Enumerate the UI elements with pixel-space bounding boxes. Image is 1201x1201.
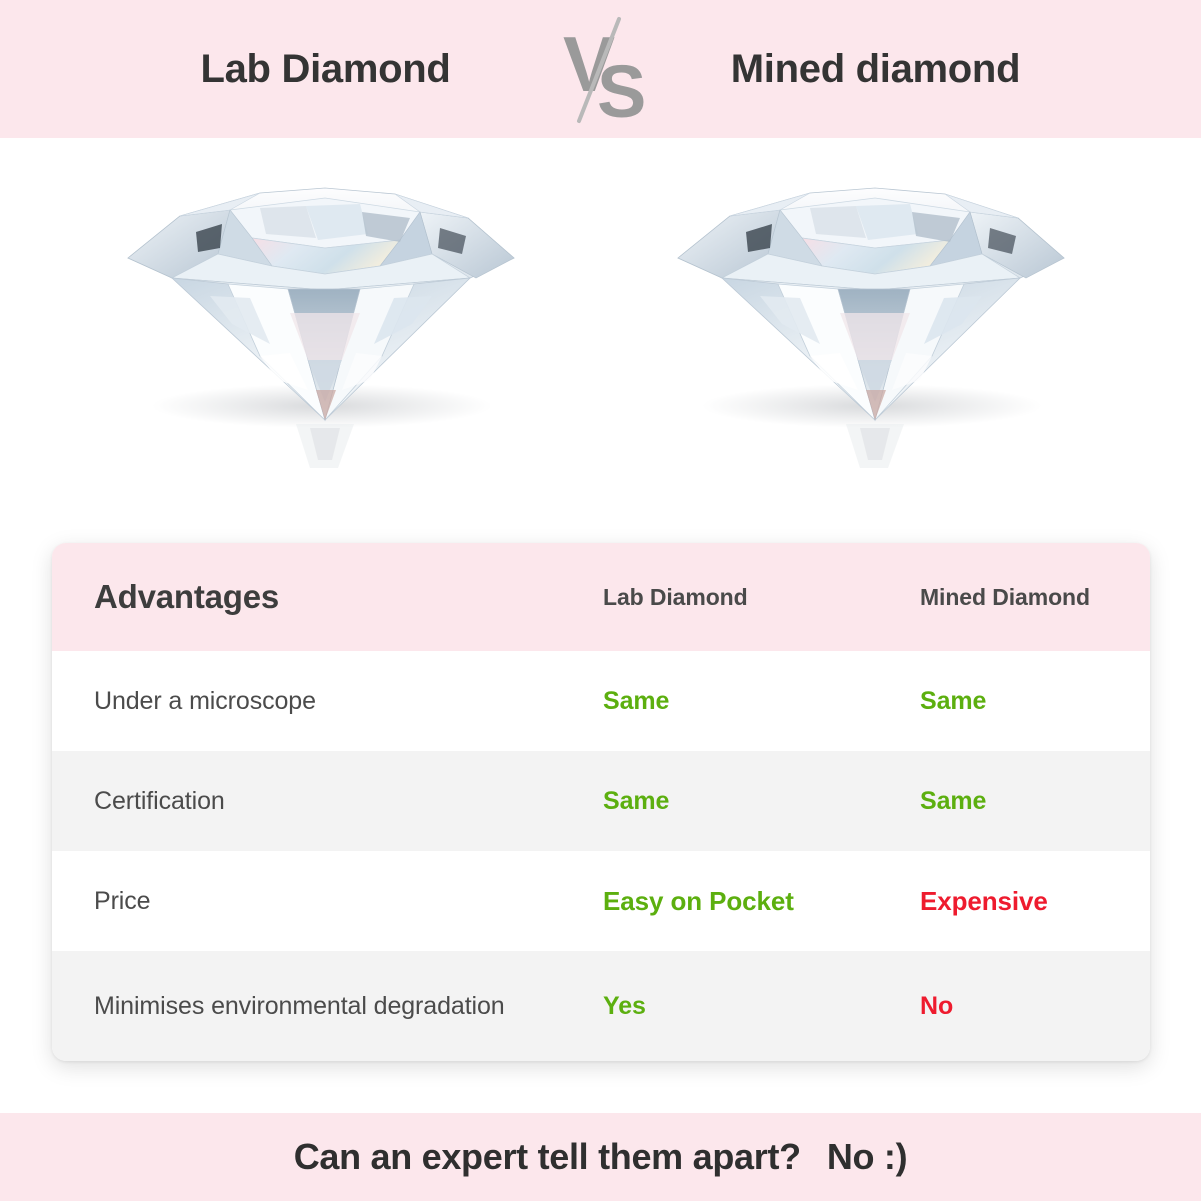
- row-lab-cell: Same: [541, 787, 872, 816]
- header-col-mined: Mined Diamond: [872, 584, 1150, 611]
- row-mined-cell: Same: [872, 787, 1150, 816]
- table-header-row: Advantages Lab Diamond Mined Diamond: [52, 543, 1150, 651]
- table-title: Advantages: [94, 578, 279, 615]
- row-mined-value: Same: [920, 687, 986, 715]
- row-lab-value: Yes: [603, 992, 646, 1020]
- row-label-cell: Price: [52, 883, 541, 919]
- lab-diamond-image: [110, 148, 530, 478]
- top-banner: Lab Diamond V S Mined diamond: [0, 0, 1201, 138]
- header-col-lab-label: Lab Diamond: [603, 584, 748, 610]
- table-row: Minimises environmental degradation Yes …: [52, 951, 1150, 1061]
- table-title-cell: Advantages: [52, 578, 541, 616]
- footer-question: Can an expert tell them apart?: [294, 1136, 801, 1177]
- table-row: Price Easy on Pocket Expensive: [52, 851, 1150, 951]
- row-lab-value: Same: [603, 687, 669, 715]
- table-row: Certification Same Same: [52, 751, 1150, 851]
- bottom-banner: Can an expert tell them apart?No :): [0, 1113, 1201, 1201]
- vs-slash-icon: V S: [541, 14, 661, 124]
- row-lab-value: Easy on Pocket: [603, 886, 794, 916]
- row-lab-value: Same: [603, 787, 669, 815]
- row-mined-value: Expensive: [920, 886, 1048, 916]
- row-lab-cell: Easy on Pocket: [541, 886, 872, 917]
- row-label: Price: [94, 887, 150, 915]
- row-mined-cell: No: [872, 992, 1150, 1021]
- row-label-cell: Certification: [52, 783, 541, 819]
- row-label-cell: Under a microscope: [52, 683, 541, 719]
- row-label: Minimises environmental degradation: [94, 992, 505, 1020]
- footer-line: Can an expert tell them apart?No :): [294, 1136, 908, 1178]
- row-label-cell: Minimises environmental degradation: [52, 988, 541, 1024]
- table-row: Under a microscope Same Same: [52, 651, 1150, 751]
- row-mined-value: No: [920, 992, 953, 1020]
- row-mined-value: Same: [920, 787, 986, 815]
- mined-diamond-image: [660, 148, 1080, 478]
- row-lab-cell: Yes: [541, 992, 872, 1021]
- row-mined-cell: Same: [872, 687, 1150, 716]
- diamond-hero-area: [0, 138, 1201, 538]
- header-col-mined-label: Mined Diamond: [920, 584, 1090, 610]
- header-col-lab: Lab Diamond: [541, 584, 872, 611]
- left-product-title: Lab Diamond: [111, 49, 541, 89]
- comparison-table: Advantages Lab Diamond Mined Diamond Und…: [52, 543, 1150, 1061]
- footer-answer: No :): [827, 1136, 907, 1177]
- row-mined-cell: Expensive: [872, 886, 1150, 917]
- row-label: Certification: [94, 787, 225, 815]
- right-product-title: Mined diamond: [661, 49, 1091, 89]
- row-lab-cell: Same: [541, 687, 872, 716]
- row-label: Under a microscope: [94, 687, 316, 715]
